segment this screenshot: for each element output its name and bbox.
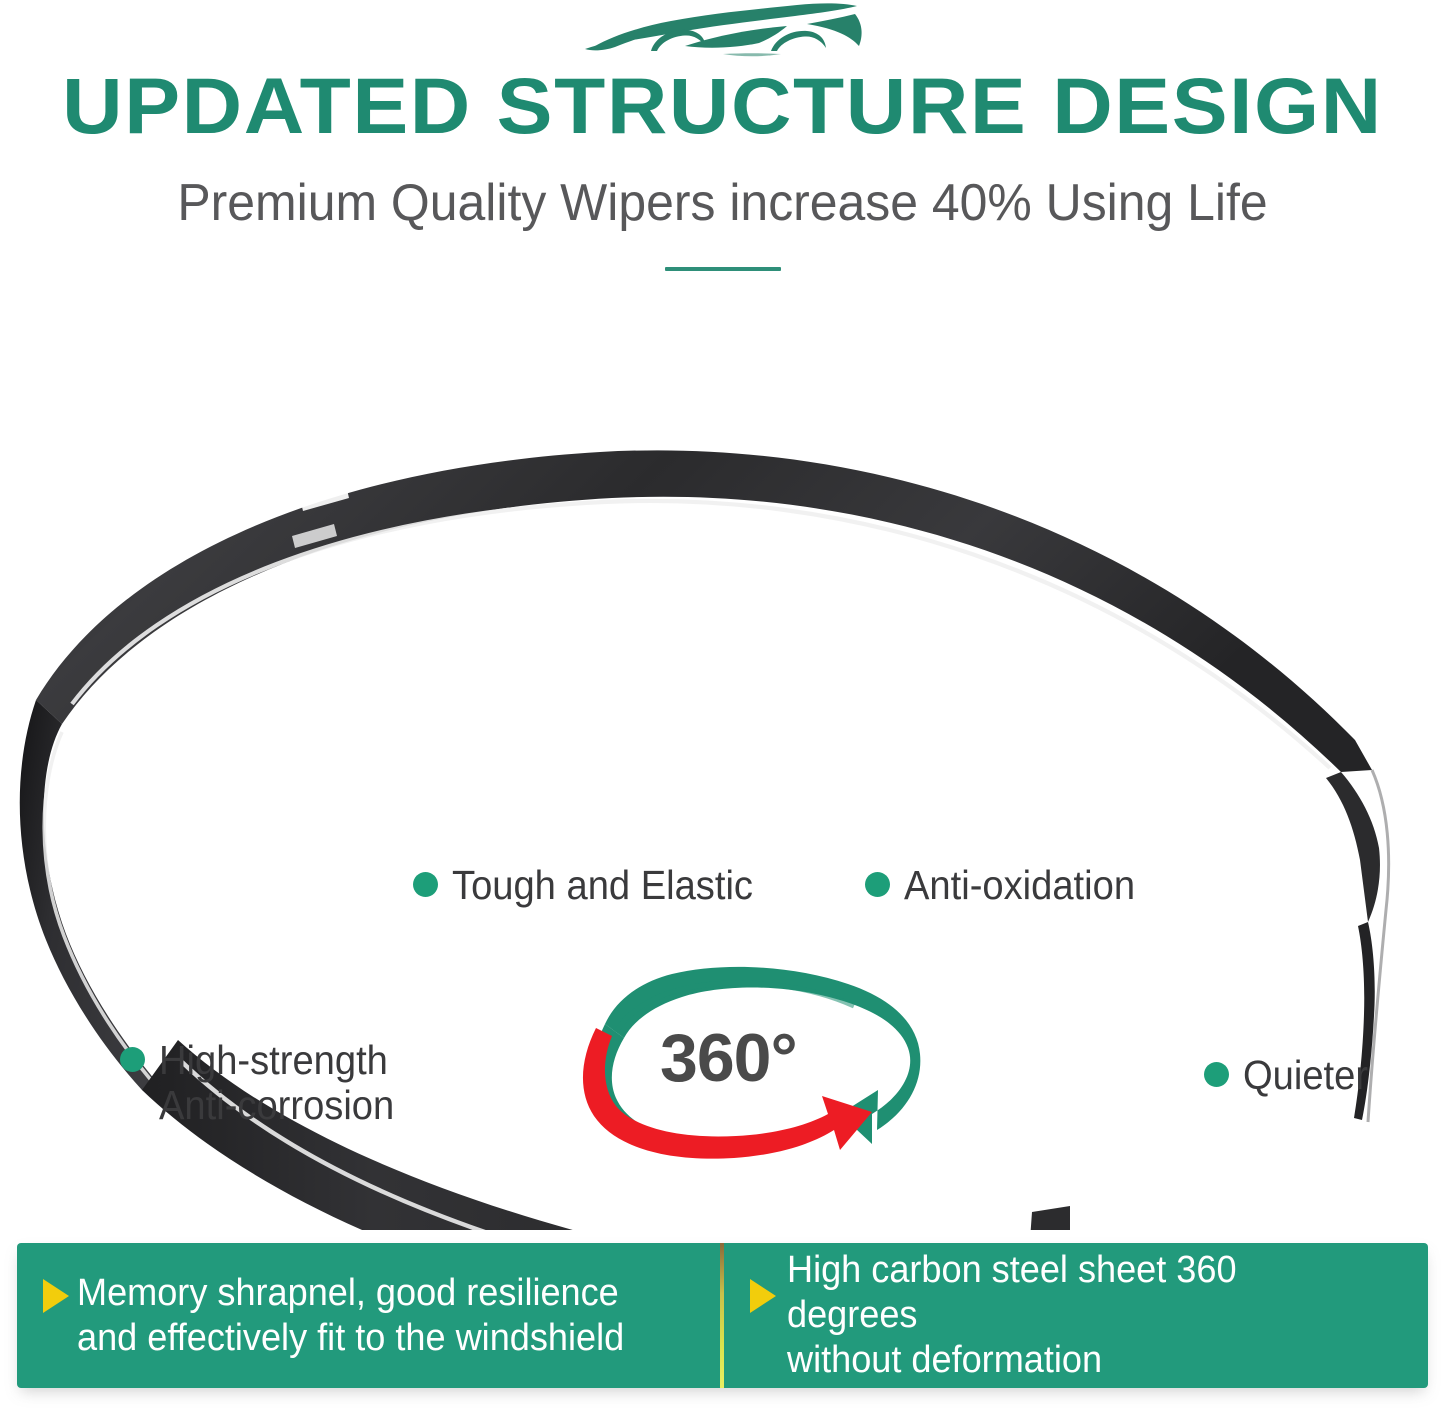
feature-label: Quieter (1243, 1053, 1368, 1098)
feature-label: High-strength Anti-corrosion (159, 1038, 394, 1128)
banner-text: High carbon steel sheet 360 degrees with… (787, 1248, 1375, 1383)
triangle-arrow-icon (750, 1279, 776, 1313)
blade-end-tab-upper (1002, 1206, 1070, 1230)
banner-panel-high-carbon-steel: High carbon steel sheet 360 degrees with… (724, 1243, 1428, 1388)
bullet-icon (865, 872, 890, 897)
feature-label-line1: High-strength (159, 1037, 388, 1083)
banner-text-line2: without deformation (787, 1338, 1375, 1383)
header: UPDATED STRUCTURE DESIGN Premium Quality… (0, 0, 1445, 300)
feature-label-line2: Anti-corrosion (159, 1083, 394, 1128)
badge-360-label: 360° (660, 1024, 797, 1092)
banner-text-line1: High carbon steel sheet 360 degrees (787, 1249, 1237, 1336)
page-subtitle: Premium Quality Wipers increase 40% Usin… (29, 172, 1416, 234)
car-silhouette-icon (573, 2, 873, 60)
feature-quieter: Quieter (1204, 1053, 1377, 1098)
banner-panel-memory-shrapnel: Memory shrapnel, good resilience and eff… (17, 1243, 720, 1388)
banner-text: Memory shrapnel, good resilience and eff… (77, 1271, 624, 1361)
bullet-icon (1204, 1062, 1229, 1087)
product-image-area: Tough and Elastic Anti-oxidation High-st… (0, 300, 1445, 1230)
feature-high-strength-anti-corrosion: High-strength Anti-corrosion (120, 1038, 412, 1128)
blade-right-tip-upper (1326, 772, 1380, 922)
banner-text-line2: and effectively fit to the windshield (77, 1316, 624, 1361)
banner-text-line1: Memory shrapnel, good resilience (77, 1272, 619, 1314)
feature-tough-and-elastic: Tough and Elastic (413, 863, 776, 908)
triangle-arrow-icon (43, 1279, 69, 1313)
title-divider (665, 267, 781, 271)
feature-label: Anti-oxidation (904, 863, 1135, 908)
feature-anti-oxidation: Anti-oxidation (865, 863, 1152, 908)
bullet-icon (120, 1047, 145, 1072)
badge-360-degrees: 360° (572, 962, 927, 1162)
bullet-icon (413, 872, 438, 897)
bottom-banner: Memory shrapnel, good resilience and eff… (17, 1243, 1428, 1388)
feature-label: Tough and Elastic (452, 863, 753, 908)
page-title: UPDATED STRUCTURE DESIGN (0, 62, 1445, 150)
